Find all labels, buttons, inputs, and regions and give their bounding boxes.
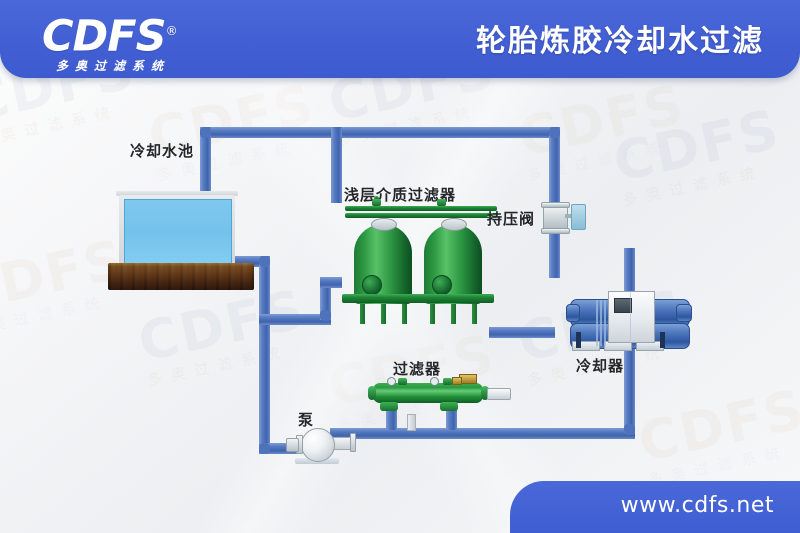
page-footer: www.cdfs.net (510, 481, 800, 533)
tank-manifold-valve-right (437, 199, 446, 206)
cooler-rib-1 (596, 300, 598, 346)
media-tank-left-manway (371, 218, 397, 231)
pipe-suction-stub (320, 277, 342, 288)
media-tank-right-leg-1 (430, 302, 435, 324)
pump-inlet-spool (286, 438, 299, 452)
media-tank-right-manway (441, 218, 467, 231)
media-tank-left-leg-3 (402, 302, 407, 324)
pressure-valve-flange-bottom (541, 228, 570, 234)
cooler-head-left (566, 304, 580, 322)
label-strainer: 过滤器 (393, 358, 441, 379)
media-tank-left-leg-1 (360, 302, 365, 324)
elbow-bottom-right (624, 424, 635, 435)
cooler-cabinet-door-seam (630, 291, 631, 341)
cooler-rib-2 (600, 300, 602, 346)
logo-text: CDFS (42, 11, 166, 61)
media-tank-right-leg-2 (451, 302, 456, 324)
elbow-mid-tie (320, 310, 331, 321)
logo-tagline: 多奥过滤系统 (42, 57, 252, 74)
pump-volute-casing (301, 428, 335, 462)
cooler-rib-3 (604, 300, 606, 346)
tank-manifold-lower (345, 213, 497, 218)
brand-logo: CDFS® 多奥过滤系统 (42, 8, 252, 70)
media-tank-left-leg-2 (381, 302, 386, 324)
strainer-body (373, 383, 483, 403)
media-tank-right-leg-3 (472, 302, 477, 324)
pressure-valve-flange-top (541, 202, 570, 208)
strainer-cap-left (368, 386, 376, 400)
strainer-gauge-right (430, 377, 439, 386)
pipe-tank-branch-riser (331, 127, 342, 203)
strainer-leg-right-top (440, 402, 458, 411)
strainer-outlet-nozzle (487, 388, 511, 400)
website-url[interactable]: www.cdfs.net (621, 493, 774, 518)
media-tank-left-port (362, 275, 382, 295)
tank-manifold-bottom (342, 294, 494, 303)
pool-base-platform (108, 263, 254, 290)
strainer-valve-right (443, 378, 452, 385)
media-tank-right (424, 224, 482, 304)
pipe-tank-discharge (489, 327, 555, 338)
process-flow-diagram: 冷却水池 浅层介质过滤器 持压阀 过滤器 冷却器 泵 (0, 78, 800, 533)
poster-root: CDFS 多奥过滤系统 CDFS 多奥过滤系统 CDFS 多奥过滤系统 CDFS… (0, 0, 800, 533)
label-pressure-sustaining-valve: 持压阀 (487, 208, 535, 229)
elbow-bottom-left (259, 443, 270, 454)
pipe-top-main (200, 127, 560, 138)
strainer-brass-elbow (452, 377, 462, 385)
registered-trademark-icon: ® (166, 24, 177, 38)
pipe-pool-downcomer (259, 256, 270, 454)
media-tank-right-port (432, 275, 452, 295)
page-title: 轮胎炼胶冷却水过滤 (476, 16, 764, 60)
media-tank-left (354, 224, 412, 304)
strainer-leg-left-top (380, 402, 398, 411)
elbow-pool-outlet (259, 256, 270, 267)
logo-wordmark: CDFS® (42, 8, 252, 59)
label-cooling-pool: 冷却水池 (130, 140, 194, 161)
pipe-bottom-main (330, 428, 635, 439)
strainer-valve-left (398, 378, 407, 385)
tank-manifold-upper (345, 206, 497, 211)
elbow-top-right (549, 127, 560, 138)
strainer-gauge-left (387, 377, 396, 386)
label-cooler: 冷却器 (576, 355, 624, 376)
cooler-foot-2 (660, 332, 665, 348)
cooler-head-right (676, 304, 692, 322)
label-pump: 泵 (298, 409, 314, 430)
strainer-drain-stub (407, 414, 416, 431)
cooler-foot-1 (576, 332, 581, 348)
page-header: CDFS® 多奥过滤系统 轮胎炼胶冷却水过滤 (0, 0, 800, 78)
pressure-valve-actuator (571, 204, 586, 230)
tank-manifold-valve-left (372, 199, 381, 206)
pump-discharge-flange (350, 433, 356, 452)
elbow-top-left (200, 127, 211, 138)
